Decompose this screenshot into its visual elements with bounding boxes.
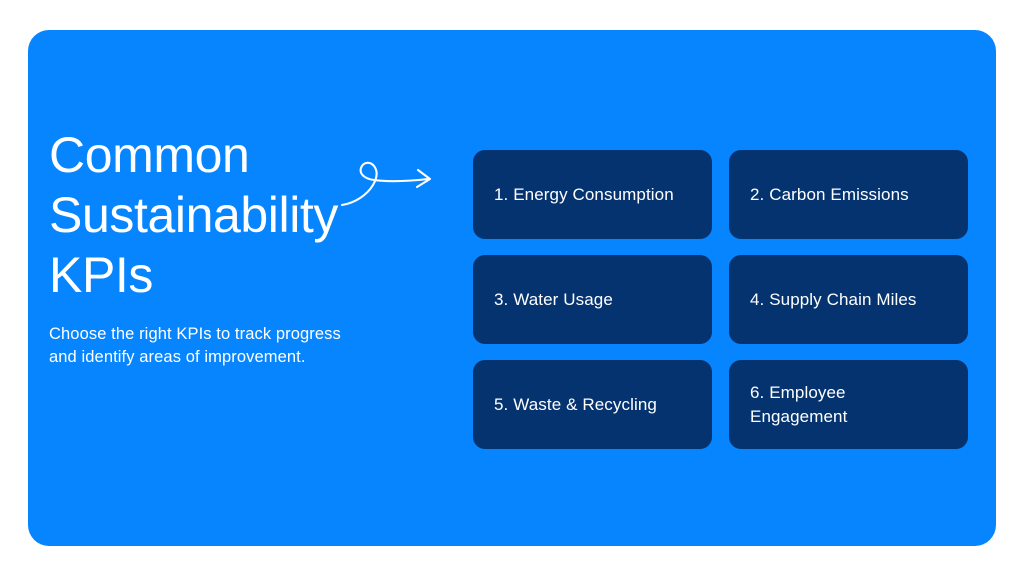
- kpi-card[interactable]: 4. Supply Chain Miles: [729, 255, 968, 344]
- kpi-card[interactable]: 6. Employee Engagement: [729, 360, 968, 449]
- kpi-card-label: 5. Waste & Recycling: [494, 393, 657, 417]
- kpi-card[interactable]: 3. Water Usage: [473, 255, 712, 344]
- kpi-card[interactable]: 5. Waste & Recycling: [473, 360, 712, 449]
- kpi-card[interactable]: 2. Carbon Emissions: [729, 150, 968, 239]
- heading-block: Common Sustainability KPIs Choose the ri…: [49, 125, 449, 369]
- kpi-card-label: 1. Energy Consumption: [494, 183, 674, 207]
- page-title: Common Sustainability KPIs: [49, 125, 449, 305]
- slide-canvas: Common Sustainability KPIs Choose the ri…: [0, 0, 1024, 576]
- kpi-card-label: 3. Water Usage: [494, 288, 613, 312]
- page-subtitle: Choose the right KPIs to track progress …: [49, 323, 344, 369]
- kpi-card-grid: 1. Energy Consumption 2. Carbon Emission…: [473, 150, 968, 453]
- kpi-card-label: 2. Carbon Emissions: [750, 183, 909, 207]
- kpi-card[interactable]: 1. Energy Consumption: [473, 150, 712, 239]
- kpi-card-label: 4. Supply Chain Miles: [750, 288, 917, 312]
- kpi-card-label: 6. Employee Engagement: [750, 381, 947, 429]
